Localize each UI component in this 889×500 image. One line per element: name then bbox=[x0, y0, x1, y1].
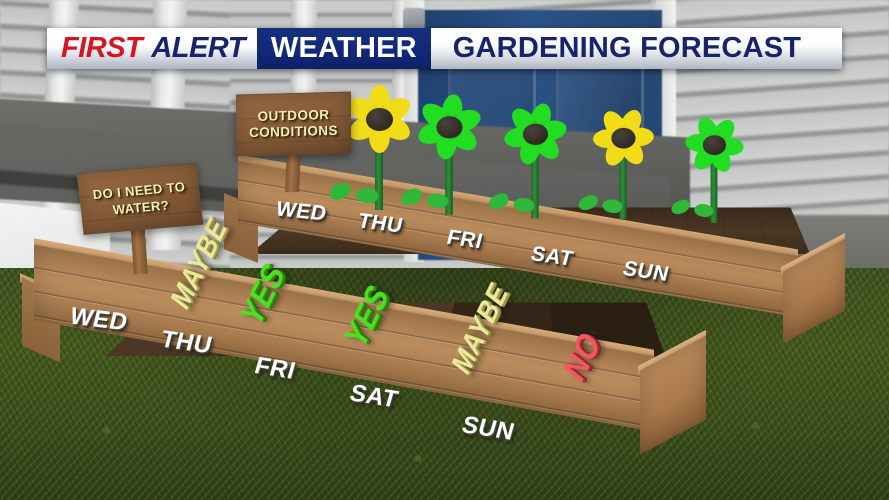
flower-wed bbox=[348, 88, 410, 150]
flower-center bbox=[436, 116, 462, 138]
flower-fri bbox=[506, 105, 564, 163]
banner-weather-block: WEATHER bbox=[257, 28, 431, 69]
flower-petals bbox=[506, 105, 564, 163]
flower-center bbox=[366, 108, 393, 131]
banner-weather-text: WEATHER bbox=[271, 32, 417, 65]
flower-petals bbox=[419, 97, 479, 157]
flower-petals bbox=[595, 110, 650, 165]
banner-title-block: GARDENING FORECAST bbox=[431, 28, 842, 69]
upper-day-label-wed: WED bbox=[273, 198, 329, 227]
banner-gardening-forecast-text: GARDENING FORECAST bbox=[453, 32, 801, 65]
sign-line-2: CONDITIONS bbox=[249, 123, 338, 141]
flower-center bbox=[702, 135, 725, 155]
first-alert-weather-banner: FIRST ALERT WEATHER GARDENING FORECAST bbox=[47, 28, 842, 69]
flower-thu bbox=[419, 97, 479, 157]
banner-first-text: FIRST bbox=[61, 32, 142, 65]
sign-line-2: WATER? bbox=[112, 197, 170, 219]
banner-brand-block: FIRST ALERT bbox=[47, 28, 257, 69]
sign-board: DO I NEED TO WATER? bbox=[77, 163, 204, 235]
gardening-forecast-graphic: WED THU FRI SAT SUN MAYBE YES YES MAYBE … bbox=[0, 0, 889, 500]
lower-day-label-fri: FRI bbox=[251, 352, 298, 385]
banner-alert-text: ALERT bbox=[151, 32, 245, 65]
sign-board: OUTDOOR CONDITIONS bbox=[236, 91, 351, 156]
flower-sat bbox=[595, 110, 650, 165]
flower-petals bbox=[687, 118, 740, 171]
flower-center bbox=[611, 127, 635, 148]
flower-sun bbox=[687, 118, 740, 171]
flower-petals bbox=[348, 88, 410, 150]
sign-line-1: OUTDOOR bbox=[258, 107, 330, 125]
flower-center bbox=[522, 123, 547, 144]
